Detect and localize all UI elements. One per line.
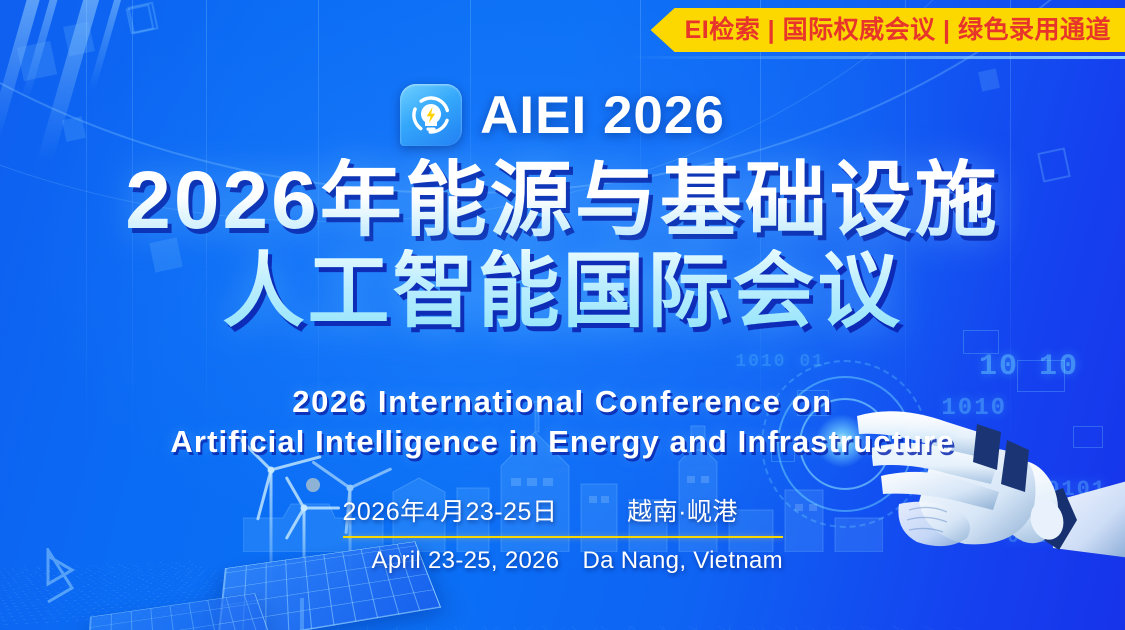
turbine-mast bbox=[270, 470, 273, 590]
turbine-mast bbox=[303, 508, 306, 594]
event-date-en: April 23-25, 2026 bbox=[343, 547, 583, 575]
headline-line-1: 2026年能源与基础设施 bbox=[0, 158, 1125, 243]
brand-row: AIEI 2026 bbox=[0, 84, 1125, 146]
turbine-hub bbox=[347, 485, 354, 492]
ei-index-ribbon[interactable]: EI检索 | 国际权威会议 | 绿色录用通道 bbox=[651, 8, 1125, 52]
wind-turbine bbox=[236, 470, 306, 590]
headline-block: 2026年能源与基础设施 人工智能国际会议 bbox=[0, 158, 1125, 335]
sun-dot bbox=[306, 478, 320, 492]
headline-line-2: 人工智能国际会议 bbox=[0, 249, 1125, 334]
ribbon-underline bbox=[625, 56, 1125, 59]
event-date-cn: 2026年4月23-25日 bbox=[343, 492, 583, 528]
binary-text: 0110 bbox=[1007, 526, 1061, 548]
subtitle-line-1: 2026 International Conference on bbox=[0, 382, 1125, 422]
solar-panel bbox=[85, 593, 275, 630]
binary-text: 1010 01 bbox=[735, 352, 825, 372]
floating-square bbox=[17, 41, 57, 81]
light-streak bbox=[88, 0, 127, 90]
subtitle-block: 2026 International Conference on Artific… bbox=[0, 382, 1125, 461]
solar-panel-leg bbox=[300, 598, 304, 630]
circuit-glyph bbox=[34, 548, 86, 610]
turbine-blade bbox=[285, 507, 306, 540]
perspective-grid bbox=[0, 626, 1125, 630]
floating-square bbox=[127, 2, 158, 35]
dot-grid bbox=[0, 561, 332, 630]
lightning-bulb-icon bbox=[409, 93, 453, 137]
turbine-blade bbox=[349, 467, 392, 489]
turbine-blade bbox=[311, 460, 350, 489]
turbine-blade bbox=[285, 476, 306, 509]
conference-banner: 10 10 1010 0101 1001 0110 1010 01 bbox=[0, 0, 1125, 630]
turbine-hub bbox=[301, 505, 308, 512]
turbine-blade bbox=[304, 507, 340, 510]
turbine-hub bbox=[268, 467, 275, 474]
conference-acronym: AIEI 2026 bbox=[480, 89, 725, 142]
wind-turbine bbox=[278, 508, 330, 594]
subtitle-line-2: Artificial Intelligence in Energy and In… bbox=[0, 422, 1125, 462]
aiei-lightning-bulb-logo bbox=[400, 84, 462, 146]
meta-divider bbox=[343, 536, 783, 538]
meta-row-chinese: 2026年4月23-25日 越南·岘港 bbox=[343, 492, 783, 528]
event-location-en: Da Nang, Vietnam bbox=[583, 547, 783, 575]
floating-square bbox=[126, 4, 155, 34]
ribbon-label: EI检索 | 国际权威会议 | 绿色录用通道 bbox=[685, 18, 1111, 43]
event-location-cn: 越南·岘港 bbox=[583, 492, 783, 528]
binary-text: 10 10 bbox=[979, 350, 1079, 384]
meta-row-english: April 23-25, 2026 Da Nang, Vietnam bbox=[343, 547, 783, 575]
event-meta: 2026年4月23-25日 越南·岘港 April 23-25, 2026 Da… bbox=[343, 492, 783, 575]
turbine-blade bbox=[256, 470, 272, 521]
binary-text: 0101 bbox=[1046, 477, 1107, 502]
floating-square bbox=[63, 22, 95, 57]
